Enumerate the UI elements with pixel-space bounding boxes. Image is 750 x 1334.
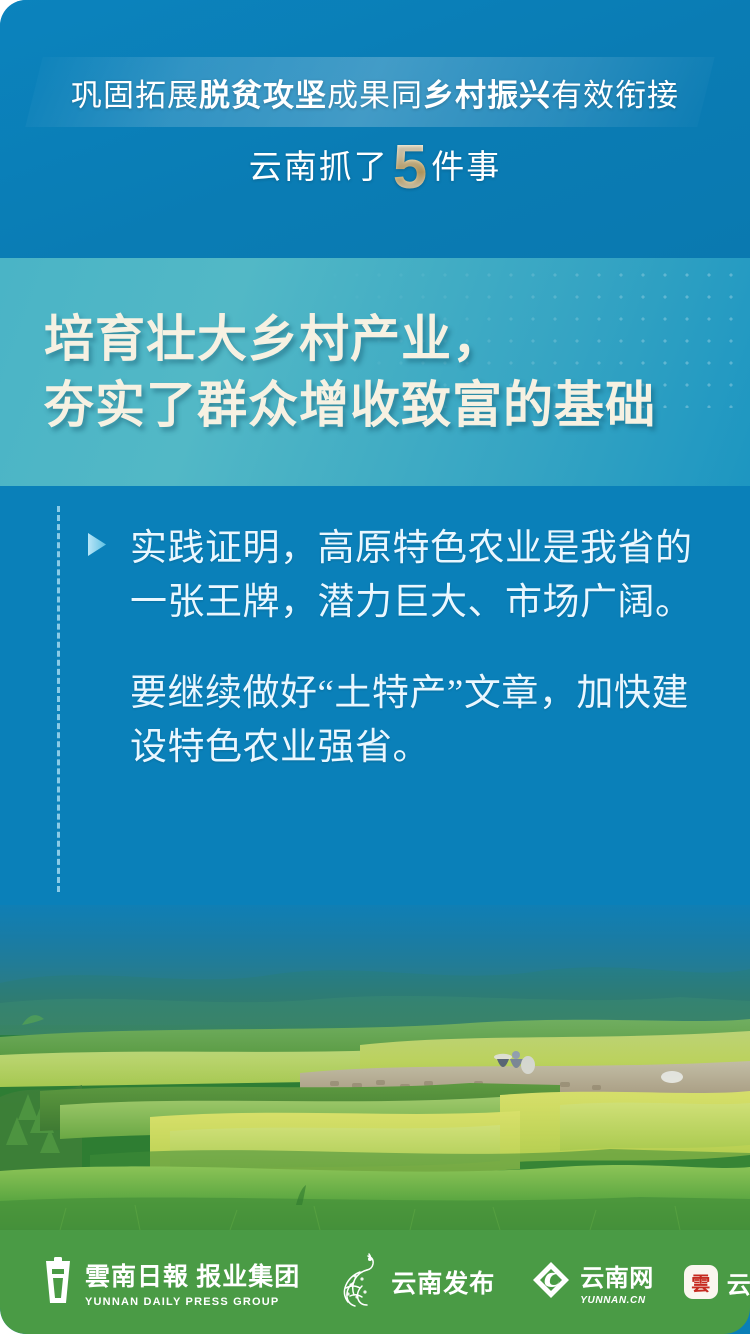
logo-cn-name: 云南发布 [391, 1264, 495, 1300]
footer-logo-bar: 雲南日報 报业集团 YUNNAN DAILY PRESS GROUP [0, 1230, 750, 1334]
page-title-line-1: 培育壮大乡村产业， [44, 311, 503, 367]
ribbon-part-5: 有效衔接 [551, 70, 679, 115]
bullet-list: 实践证明，高原特色农业是我省的一张王牌，潜力巨大、市场广阔。 要继续做好“土特产… [0, 486, 750, 910]
ribbon-part-1: 巩固拓展 [71, 70, 199, 115]
logo-text-stack: 云南网 YUNNAN.CN [580, 1258, 654, 1306]
yun-badge-icon: 雲 [684, 1265, 718, 1299]
logo-yunnan-fabu[interactable]: 云南发布 [338, 1252, 495, 1313]
logo-cn-name: 云新闻 [727, 1265, 750, 1300]
chevron-right-icon [86, 531, 112, 558]
ribbon-part-2: 脱贫攻坚 [199, 70, 327, 115]
top-banner: 巩固拓展脱贫攻坚成果同乡村振兴有效衔接 云南抓了5件事 [0, 0, 750, 258]
logo-yunnan-net[interactable]: 云南网 YUNNAN.CN [531, 1258, 654, 1306]
list-item-text: 要继续做好“土特产”文章，加快建设特色农业强省。 [88, 667, 716, 776]
diamond-eye-mark-icon [531, 1260, 571, 1305]
logo-en-name: YUNNAN DAILY PRESS GROUP [85, 1296, 300, 1308]
newspaper-mark-icon [40, 1255, 76, 1310]
page-title-line-2: 夯实了群众增收致富的基础 [44, 372, 730, 438]
list-item: 要继续做好“土特产”文章，加快建设特色农业强省。 [0, 667, 750, 776]
logo-text-stack: 云南发布 [391, 1264, 495, 1300]
logo-cn-name: 云南网 [580, 1258, 654, 1293]
photo-rice-terraces [0, 905, 750, 1230]
logo-text-stack: 云新闻 [727, 1265, 750, 1300]
heading-band: 培育壮大乡村产业， 夯实了群众增收致富的基础 [0, 258, 750, 486]
banner-subtitle: 云南抓了5件事 [0, 128, 750, 200]
list-item-text: 实践证明，高原特色农业是我省的一张王牌，潜力巨大、市场广阔。 [88, 522, 716, 631]
logo-en-name: YUNNAN.CN [580, 1295, 654, 1306]
peacock-mark-icon [338, 1252, 382, 1313]
subtitle-suffix: 件事 [431, 140, 501, 188]
list-item: 实践证明，高原特色农业是我省的一张王牌，潜力巨大、市场广阔。 [0, 522, 750, 631]
logo-cn-name: 雲南日報 报业集团 [85, 1257, 300, 1293]
page-title: 培育壮大乡村产业， 夯实了群众增收致富的基础 [44, 306, 730, 438]
banner-ribbon-title: 巩固拓展脱贫攻坚成果同乡村振兴有效衔接 [0, 62, 750, 122]
logo-yun-xinwen[interactable]: 雲 云新闻 [684, 1265, 750, 1300]
logo-yunnan-daily-press-group[interactable]: 雲南日報 报业集团 YUNNAN DAILY PRESS GROUP [40, 1255, 300, 1310]
logo-text-stack: 雲南日報 报业集团 YUNNAN DAILY PRESS GROUP [85, 1257, 300, 1308]
subtitle-prefix: 云南抓了 [249, 140, 389, 188]
ribbon-part-3: 成果同 [327, 70, 423, 115]
subtitle-count-number: 5 [393, 137, 427, 199]
poster-canvas: 巩固拓展脱贫攻坚成果同乡村振兴有效衔接 云南抓了5件事 培育壮大乡村产业， 夯实… [0, 0, 750, 1334]
ribbon-part-4: 乡村振兴 [423, 70, 551, 115]
